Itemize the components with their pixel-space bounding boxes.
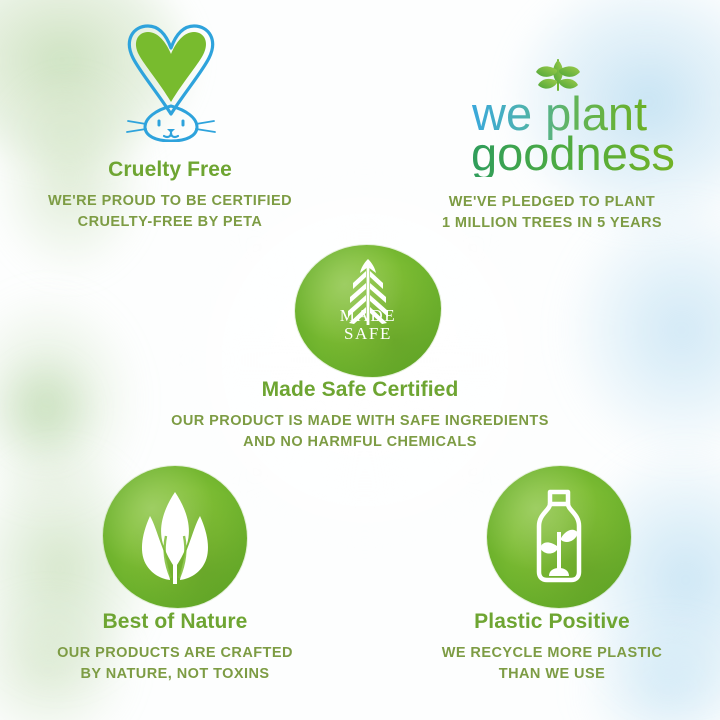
made-safe-word-safe: SAFE xyxy=(295,325,441,343)
cruelty-free-description-line1: WE'RE PROUD TO BE CERTIFIED xyxy=(48,193,292,209)
sprout-plant-icon xyxy=(536,60,580,90)
best-of-nature-badge xyxy=(103,466,247,608)
plastic-positive-text-block: Plastic Positive WE RECYCLE MORE PLASTIC… xyxy=(392,610,712,684)
made-safe-text-block: Made Safe Certified OUR PRODUCT IS MADE … xyxy=(120,378,600,452)
we-plant-goodness-description-line2: 1 MILLION TREES IN 5 YEARS xyxy=(442,215,662,231)
we-plant-goodness-text-block: WE'VE PLEDGED TO PLANT 1 MILLION TREES I… xyxy=(392,192,712,233)
cruelty-free-text-block: Cruelty Free WE'RE PROUD TO BE CERTIFIED… xyxy=(10,158,330,232)
we-plant-goodness-logo: we plant goodness xyxy=(470,52,685,177)
best-of-nature-description-line2: BY NATURE, NOT TOXINS xyxy=(80,666,269,682)
best-of-nature-description-line1: OUR PRODUCTS ARE CRAFTED xyxy=(57,645,293,661)
bottle-sprout-icon xyxy=(487,466,631,608)
cruelty-free-description-line2: CRUELTY-FREE BY PETA xyxy=(78,214,263,230)
made-safe-heading: Made Safe Certified xyxy=(120,378,600,402)
we-plant-goodness-description: WE'VE PLEDGED TO PLANT 1 MILLION TREES I… xyxy=(392,192,712,233)
three-leaves-icon xyxy=(103,466,247,608)
best-of-nature-description: OUR PRODUCTS ARE CRAFTED BY NATURE, NOT … xyxy=(15,643,335,684)
best-of-nature-heading: Best of Nature xyxy=(15,610,335,634)
peta-bunny-heart-icon xyxy=(112,18,230,142)
plastic-positive-description: WE RECYCLE MORE PLASTIC THAN WE USE xyxy=(392,643,712,684)
made-safe-description-line1: OUR PRODUCT IS MADE WITH SAFE INGREDIENT… xyxy=(171,413,549,429)
plastic-positive-description-line1: WE RECYCLE MORE PLASTIC xyxy=(442,645,663,661)
plastic-positive-badge xyxy=(487,466,631,608)
we-plant-goodness-description-line1: WE'VE PLEDGED TO PLANT xyxy=(449,194,655,210)
made-safe-description-line2: AND NO HARMFUL CHEMICALS xyxy=(243,434,477,450)
best-of-nature-text-block: Best of Nature OUR PRODUCTS ARE CRAFTED … xyxy=(15,610,335,684)
made-safe-badge-text: MADE SAFE xyxy=(295,307,441,342)
cruelty-free-description: WE'RE PROUD TO BE CERTIFIED CRUELTY-FREE… xyxy=(10,191,330,232)
made-safe-word-made: MADE xyxy=(295,307,441,325)
cruelty-free-heading: Cruelty Free xyxy=(10,158,330,182)
infographic-canvas: we plant goodness xyxy=(0,0,720,720)
logo-line-2: goodness xyxy=(471,127,675,177)
made-safe-description: OUR PRODUCT IS MADE WITH SAFE INGREDIENT… xyxy=(120,411,600,452)
plastic-positive-heading: Plastic Positive xyxy=(392,610,712,634)
made-safe-badge: MADE SAFE xyxy=(295,245,441,377)
plastic-positive-description-line2: THAN WE USE xyxy=(499,666,605,682)
